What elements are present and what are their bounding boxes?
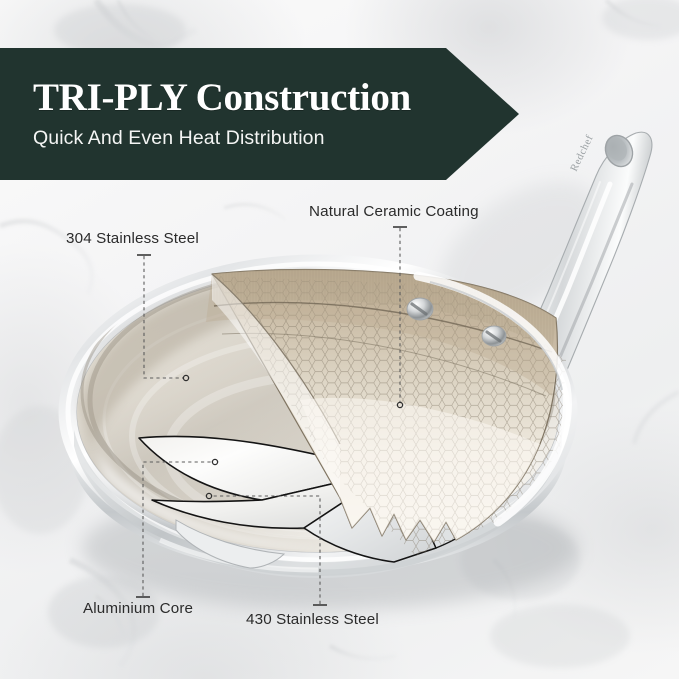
callout-label-304-stainless-steel: 304 Stainless Steel [66, 230, 199, 247]
handle-brand-text: Redchef [569, 133, 596, 173]
frying-pan-illustration: Redchef [0, 0, 679, 679]
infographic-canvas: TRI-PLY Construction Quick And Even Heat… [0, 0, 679, 679]
callout-label-430-stainless-steel: 430 Stainless Steel [246, 611, 379, 628]
callout-label-natural-ceramic-coating: Natural Ceramic Coating [309, 203, 479, 220]
callout-label-aluminium-core: Aluminium Core [83, 600, 193, 617]
